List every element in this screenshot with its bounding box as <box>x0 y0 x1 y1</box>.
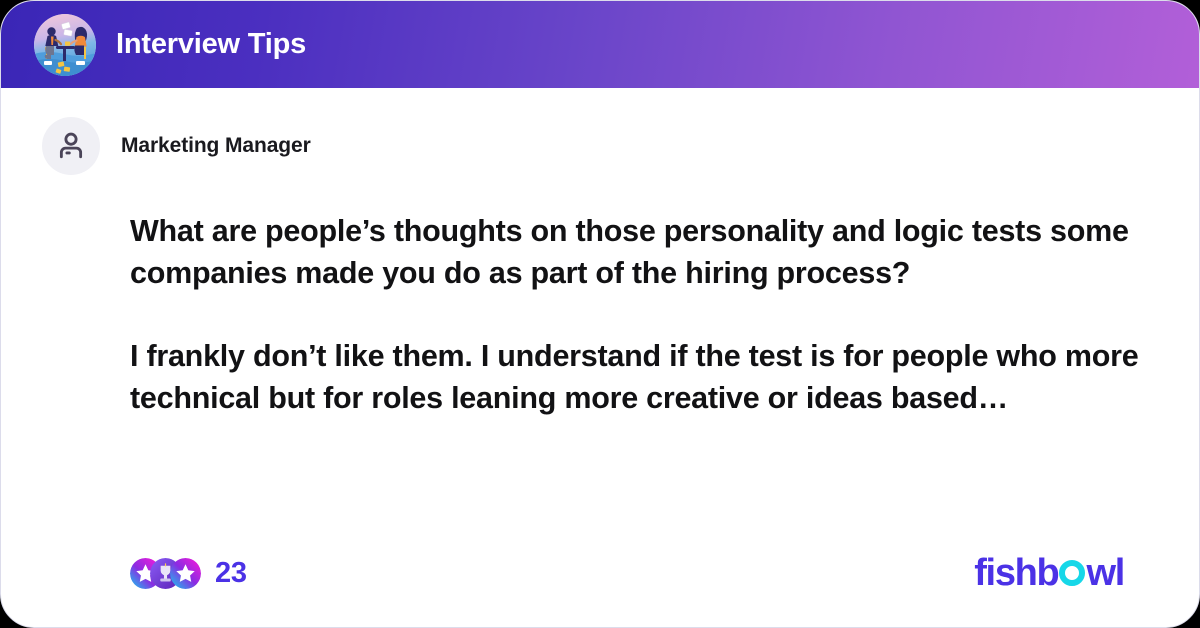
post-author-title: Marketing Manager <box>121 134 311 158</box>
fishbowl-post-card: Interview Tips Marketing Manager What ar… <box>0 0 1200 628</box>
fishbowl-logo-text-start: fishb <box>974 554 1058 592</box>
interview-illustration-avatar[interactable] <box>34 14 96 76</box>
post-footer: 23 fishb wl <box>1 519 1199 627</box>
fishbowl-logo: fishb wl <box>974 554 1124 592</box>
bowl-title: Interview Tips <box>116 30 306 59</box>
bowl-header: Interview Tips <box>1 1 1199 88</box>
reaction-badge-stack[interactable] <box>130 558 201 589</box>
anonymous-person-icon <box>42 117 100 175</box>
post-body: Marketing Manager What are people’s thou… <box>1 88 1199 627</box>
bowl-o-icon <box>1059 560 1085 586</box>
post-author-row: Marketing Manager <box>42 117 1159 175</box>
star-reaction-icon[interactable] <box>170 558 201 589</box>
reactions-group[interactable]: 23 <box>130 557 247 590</box>
reaction-count: 23 <box>215 557 247 590</box>
post-text: What are people’s thoughts on those pers… <box>130 211 1149 420</box>
fishbowl-logo-text-end: wl <box>1086 554 1124 592</box>
